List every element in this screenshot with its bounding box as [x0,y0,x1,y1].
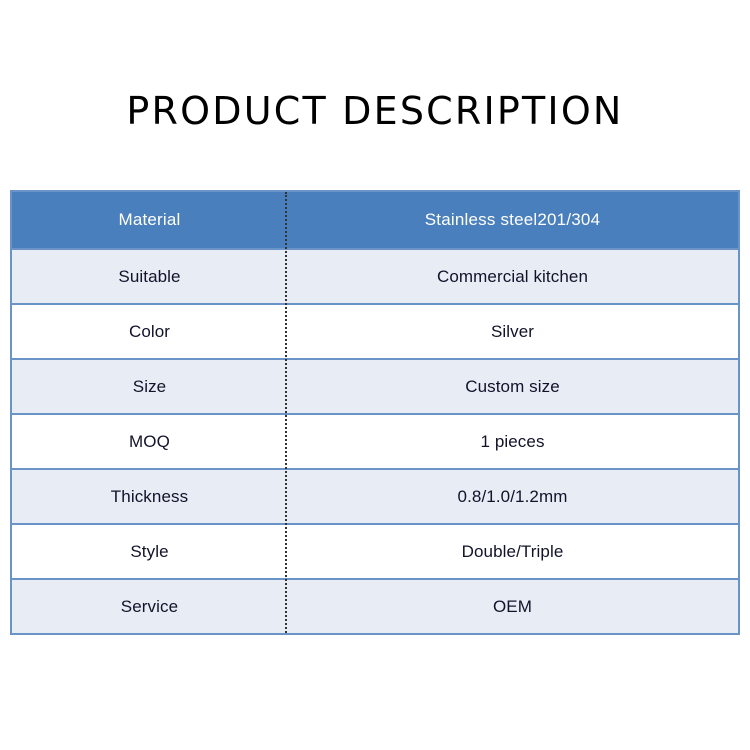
row-value: Custom size [287,359,738,414]
row-label: Thickness [12,469,287,524]
specification-table-head: Material Stainless steel201/304 [12,192,738,249]
page-title-area: PRODUCT DESCRIPTION [0,88,750,134]
row-value: Silver [287,304,738,359]
table-row: Color Silver [12,304,738,359]
row-label: Color [12,304,287,359]
table-row: MOQ 1 pieces [12,414,738,469]
table-row: Service OEM [12,579,738,633]
row-value: OEM [287,579,738,633]
row-label: MOQ [12,414,287,469]
product-description-page: PRODUCT DESCRIPTION Material Stainless s… [0,0,750,750]
row-value: 1 pieces [287,414,738,469]
table-row: Suitable Commercial kitchen [12,249,738,304]
row-value: Commercial kitchen [287,249,738,304]
page-title: PRODUCT DESCRIPTION [126,88,623,134]
row-label: Service [12,579,287,633]
row-value: 0.8/1.0/1.2mm [287,469,738,524]
specification-table: Material Stainless steel201/304 Suitable… [12,192,738,633]
table-row: Thickness 0.8/1.0/1.2mm [12,469,738,524]
specification-table-body: Suitable Commercial kitchen Color Silver… [12,249,738,633]
specification-table-container: Material Stainless steel201/304 Suitable… [10,190,740,635]
table-header-row: Material Stainless steel201/304 [12,192,738,249]
table-row: Style Double/Triple [12,524,738,579]
row-value: Double/Triple [287,524,738,579]
row-label: Style [12,524,287,579]
row-label: Size [12,359,287,414]
table-row: Size Custom size [12,359,738,414]
header-cell-value: Stainless steel201/304 [287,192,738,249]
header-cell-label: Material [12,192,287,249]
row-label: Suitable [12,249,287,304]
